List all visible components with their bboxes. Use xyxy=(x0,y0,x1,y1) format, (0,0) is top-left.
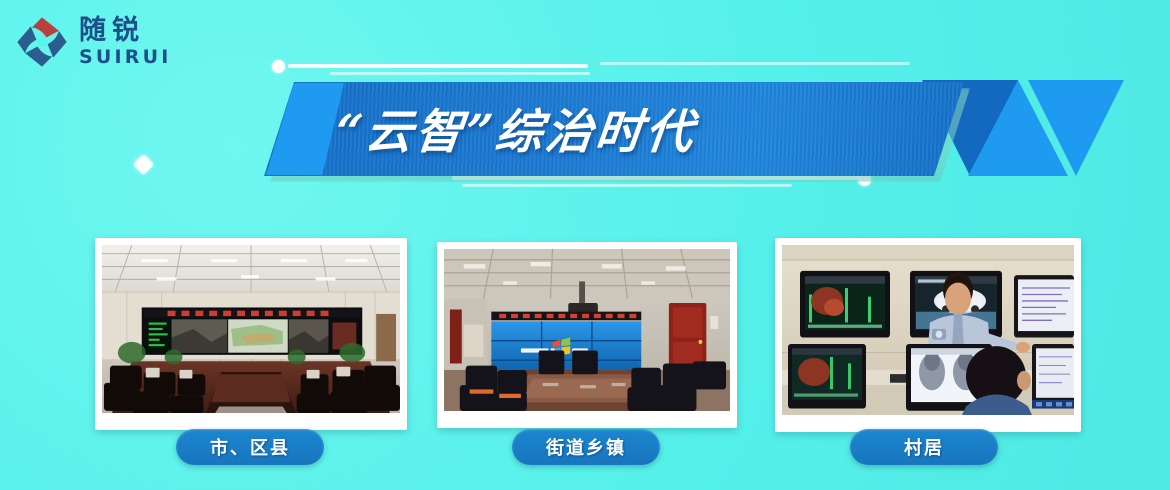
photo-card-street-township[interactable] xyxy=(437,242,737,428)
label-pill-village[interactable]: 村居 xyxy=(850,429,998,465)
top-line-short xyxy=(330,72,590,75)
brand-name-en: SUIRUI xyxy=(79,48,172,67)
township-meeting-room-videowall-photo xyxy=(444,249,730,411)
banner-top-hairline xyxy=(600,62,910,65)
page-title: “云智”综治时代 xyxy=(258,78,958,176)
label-text-city-district: 市、区县 xyxy=(210,434,290,460)
label-text-street-township: 街道乡镇 xyxy=(546,434,626,460)
command-center-conference-room-photo xyxy=(102,245,400,413)
village-monitoring-room-officer-photo xyxy=(782,245,1074,415)
top-line-long xyxy=(288,64,588,68)
page-title-text: “云智”综治时代 xyxy=(332,93,699,162)
slide-canvas: 随锐 SUIRUI “云智”综治时代 xyxy=(0,0,1170,490)
photo-card-village[interactable] xyxy=(775,238,1081,432)
photo-card-row xyxy=(0,238,1170,418)
bottom-line-short xyxy=(462,184,792,187)
triangle-down-light-icon xyxy=(1028,80,1124,176)
label-pill-street-township[interactable]: 街道乡镇 xyxy=(512,429,660,465)
top-left-dot xyxy=(272,60,285,73)
brand-logo: 随锐 SUIRUI xyxy=(14,14,172,70)
title-banner: “云智”综治时代 xyxy=(258,78,938,178)
label-text-village: 村居 xyxy=(904,434,944,460)
photo-card-city-district[interactable] xyxy=(95,238,407,430)
label-pill-city-district[interactable]: 市、区县 xyxy=(176,429,324,465)
brand-name-cn: 随锐 xyxy=(79,17,172,44)
left-diamond xyxy=(133,154,154,175)
brand-text: 随锐 SUIRUI xyxy=(79,17,172,67)
suirui-pinwheel-logo-icon xyxy=(14,14,70,70)
